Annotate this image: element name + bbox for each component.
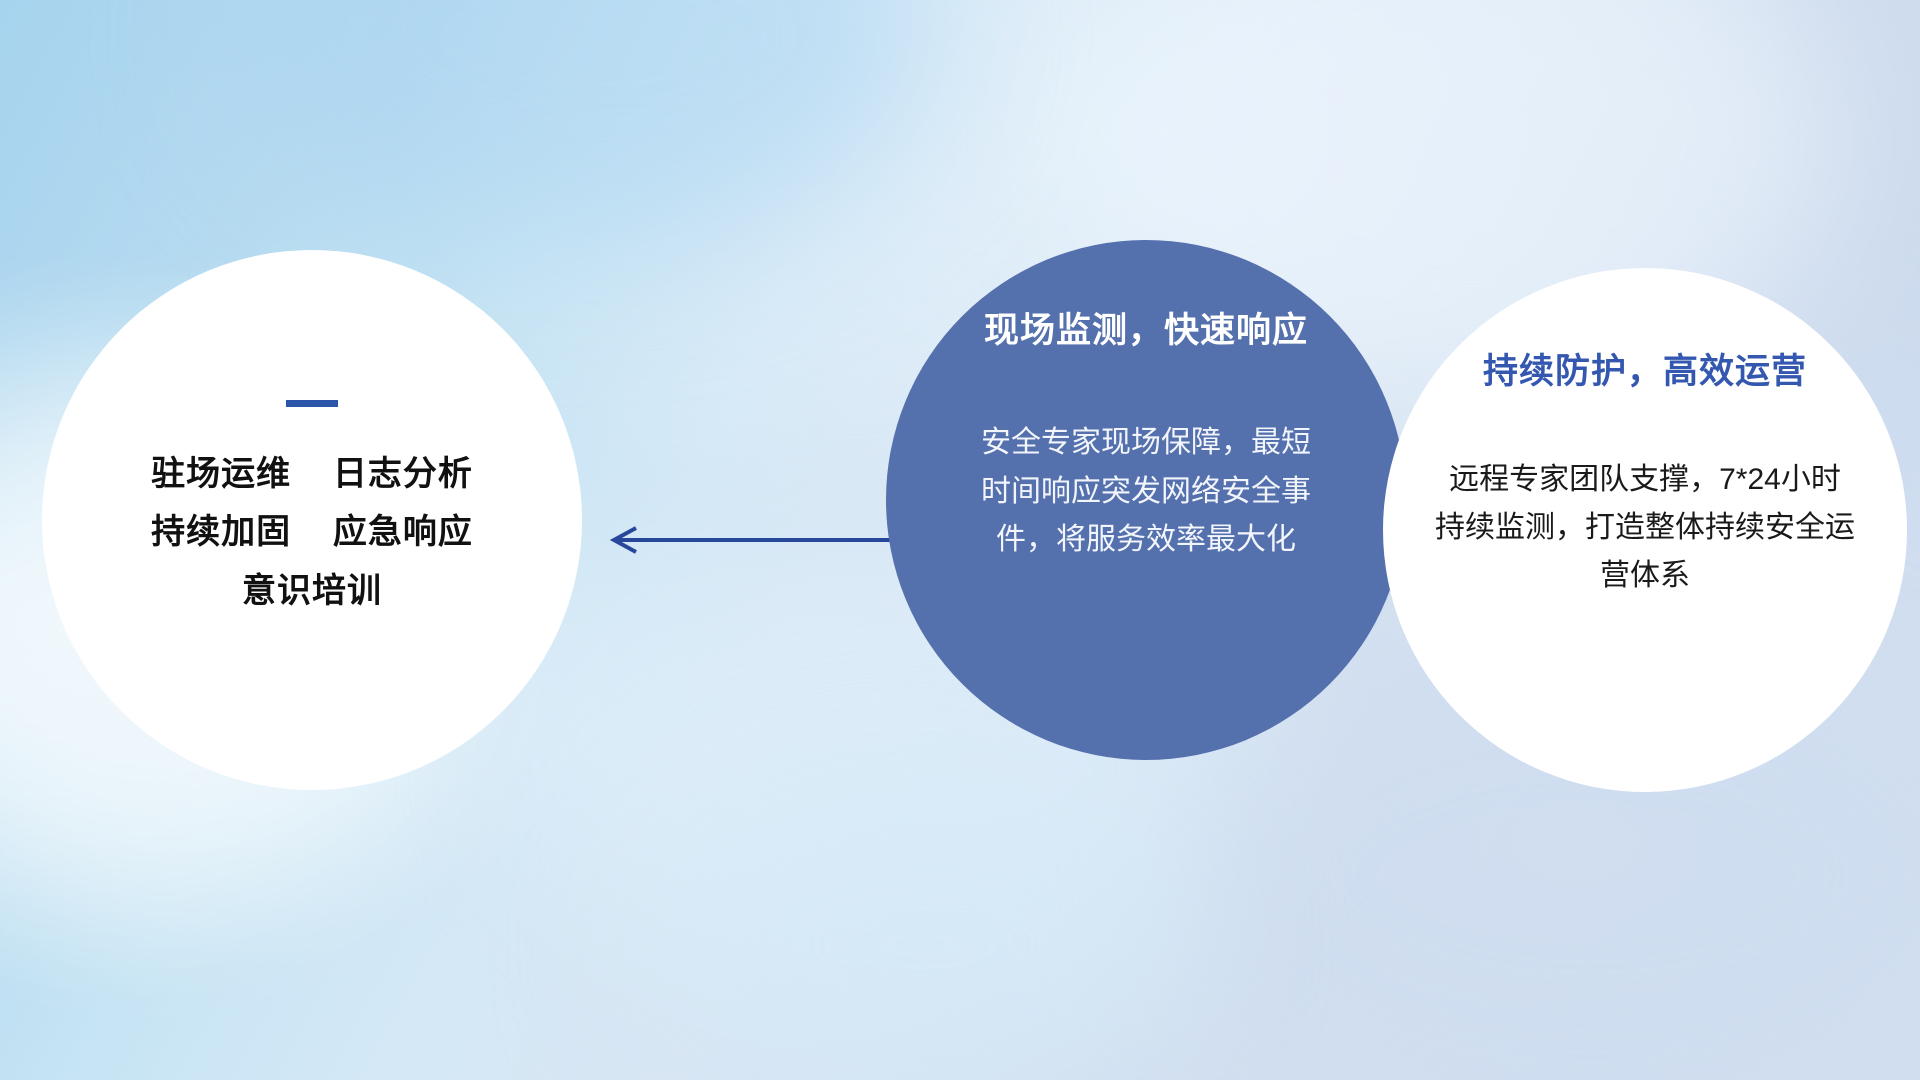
list-item: 意识培训	[151, 562, 473, 620]
right-circle-body: 远程专家团队支撑，7*24小时持续监测，打造整体持续安全运营体系	[1435, 456, 1855, 600]
slide-canvas: 驻场运维 日志分析 持续加固 应急响应 意识培训 现场监测，快速响应 安全专家现…	[0, 0, 1920, 1080]
flow-arrow	[596, 520, 916, 560]
capability-list: 驻场运维 日志分析 持续加固 应急响应 意识培训	[151, 445, 473, 620]
right-circle-title: 持续防护，高效运营	[1483, 343, 1807, 394]
middle-circle-title: 现场监测，快速响应	[984, 302, 1308, 353]
capability-circle-right: 持续防护，高效运营 远程专家团队支撑，7*24小时持续监测，打造整体持续安全运营…	[1383, 268, 1907, 792]
divider-dash-icon	[286, 400, 338, 407]
background-glow-6	[640, 780, 1200, 1080]
capability-circle-left: 驻场运维 日志分析 持续加固 应急响应 意识培训	[42, 250, 582, 790]
middle-circle-body: 安全专家现场保障，最短时间响应突发网络安全事件，将服务效率最大化	[981, 419, 1311, 565]
flow-arrow-icon	[596, 520, 916, 560]
capability-circle-middle: 现场监测，快速响应 安全专家现场保障，最短时间响应突发网络安全事件，将服务效率最…	[886, 240, 1406, 760]
background-glow-5	[240, 0, 940, 250]
list-item: 驻场运维 日志分析	[151, 445, 473, 503]
list-item: 持续加固 应急响应	[151, 503, 473, 561]
